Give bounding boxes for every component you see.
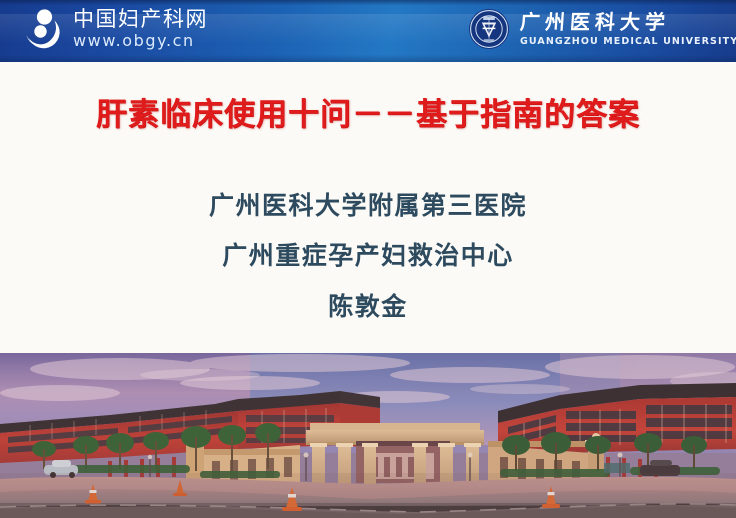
obgy-mother-child-logo-icon [18,6,66,54]
obgy-brand-text: 中国妇产科网 www.obgy.cn [73,9,208,51]
guangzhou-medical-university-seal-icon [468,8,510,50]
slide-title: 肝素临床使用十问－－基于指南的答案 [0,89,736,134]
obgy-brand-url-label: www.obgy.cn [73,33,208,49]
slide-subtitle-block: 广州医科大学附属第三医院 广州重症孕产妇救治中心 陈敦金 [0,193,736,319]
obgy-brand[interactable]: 中国妇产科网 www.obgy.cn [18,6,208,54]
obgy-brand-cn-label: 中国妇产科网 [73,9,208,30]
subtitle-line-presenter: 陈敦金 [0,294,736,319]
gmu-brand[interactable]: 广州医科大学 GUANGZHOU MEDICAL UNIVERSITY [468,8,736,50]
gmu-brand-en-label: GUANGZHOU MEDICAL UNIVERSITY [520,37,736,47]
subtitle-line-institution: 广州医科大学附属第三医院 [0,193,736,218]
presentation-slide: 中国妇产科网 www.obgy.cn 广州医科大学 [0,0,736,518]
subtitle-line-center: 广州重症孕产妇救治中心 [0,243,736,268]
gmu-brand-text: 广州医科大学 GUANGZHOU MEDICAL UNIVERSITY [520,12,736,47]
campus-panorama-photo [0,353,736,518]
header-bar: 中国妇产科网 www.obgy.cn 广州医科大学 [0,0,736,62]
slide-content: 肝素临床使用十问－－基于指南的答案 广州医科大学附属第三医院 广州重症孕产妇救治… [0,62,736,353]
gmu-brand-cn-label: 广州医科大学 [519,12,736,32]
